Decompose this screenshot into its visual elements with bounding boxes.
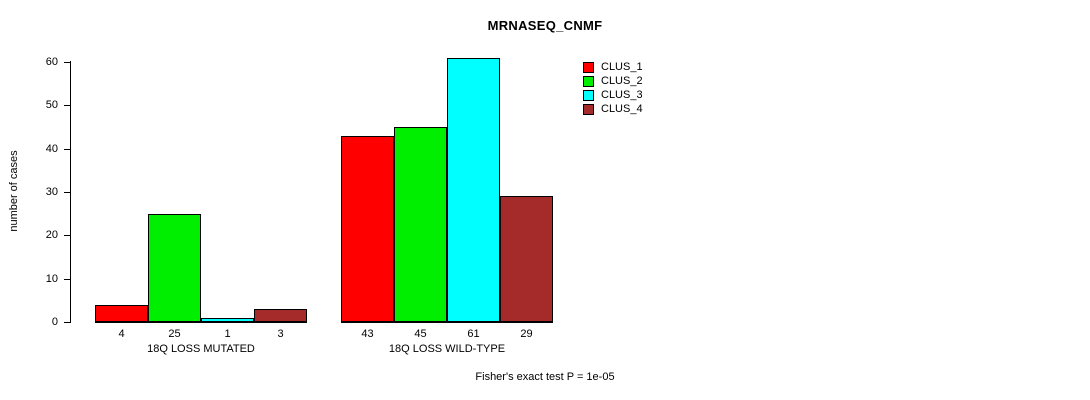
legend-item-label: CLUS_4 xyxy=(601,103,643,115)
y-axis-tick-mark xyxy=(64,192,70,193)
legend-item-label: CLUS_1 xyxy=(601,61,643,73)
x-axis-baseline xyxy=(341,322,553,323)
y-axis-tick-label: 50 xyxy=(18,100,58,111)
bar-value-label: 1 xyxy=(201,329,254,340)
legend-item-label: CLUS_2 xyxy=(601,75,643,87)
bar xyxy=(447,58,500,322)
bar-value-label: 61 xyxy=(447,329,500,340)
bar xyxy=(500,196,553,322)
bar-value-label: 45 xyxy=(394,329,447,340)
bar-value-label: 3 xyxy=(254,329,307,340)
y-axis-tick-mark xyxy=(64,105,70,106)
bar-chart: MRNASEQ_CNMF number of cases 01020304050… xyxy=(0,0,1090,400)
bar-value-label: 29 xyxy=(500,329,553,340)
y-axis-tick-mark xyxy=(64,235,70,236)
legend-color-swatch-icon xyxy=(583,90,594,101)
y-axis-tick-mark xyxy=(64,62,70,63)
y-axis-tick-label: 0 xyxy=(18,317,58,328)
bar-value-label: 4 xyxy=(95,329,148,340)
y-axis-tick-mark xyxy=(64,279,70,280)
y-axis-tick-label: 10 xyxy=(18,274,58,285)
y-axis-tick-label: 20 xyxy=(18,230,58,241)
legend-item-label: CLUS_3 xyxy=(601,89,643,101)
bar-value-label: 25 xyxy=(148,329,201,340)
bar xyxy=(148,214,201,322)
plot-area: number of cases 0102030405060 4251343456… xyxy=(0,0,560,400)
bar xyxy=(394,127,447,322)
y-axis-tick-label: 30 xyxy=(18,187,58,198)
legend-color-swatch-icon xyxy=(583,62,594,73)
y-axis-tick-label: 40 xyxy=(18,144,58,155)
y-axis-tick-mark xyxy=(64,322,70,323)
y-axis-tick-label: 60 xyxy=(18,57,58,68)
y-axis-tick-mark xyxy=(64,149,70,150)
legend-color-swatch-icon xyxy=(583,104,594,115)
x-axis-baseline xyxy=(95,322,307,323)
y-axis-line xyxy=(70,61,71,323)
bar xyxy=(254,309,307,322)
legend-color-swatch-icon xyxy=(583,76,594,87)
bar xyxy=(95,305,148,322)
x-axis-group-label: 18Q LOSS MUTATED xyxy=(75,344,327,355)
bar xyxy=(341,136,394,322)
footer-annotation: Fisher's exact test P = 1e-05 xyxy=(0,371,1090,383)
bar-value-label: 43 xyxy=(341,329,394,340)
x-axis-group-label: 18Q LOSS WILD-TYPE xyxy=(321,344,573,355)
